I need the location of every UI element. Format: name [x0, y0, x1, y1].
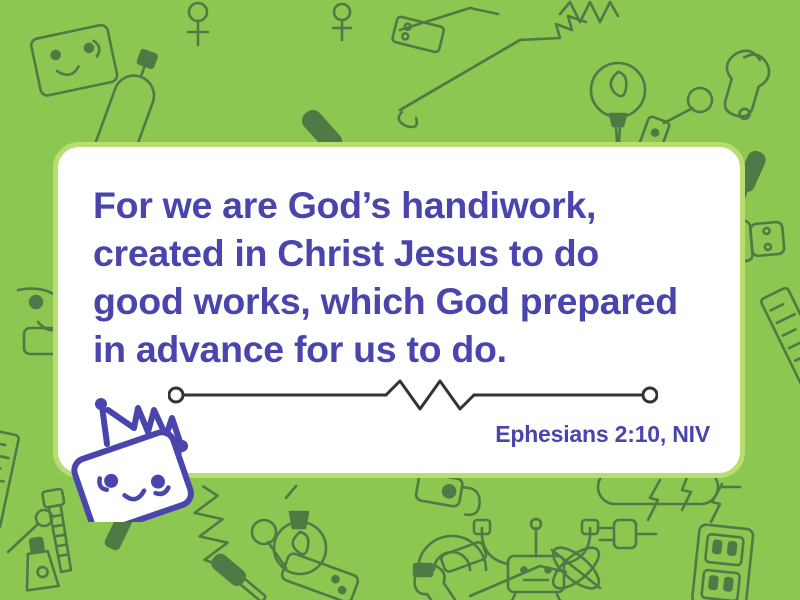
verse-attribution: Ephesians 2:10, NIV	[495, 421, 710, 448]
robot-mascot-icon	[62, 382, 212, 522]
verse-text: For we are God’s handiwork, created in C…	[93, 181, 693, 373]
scripture-card-canvas: For we are God’s handiwork, created in C…	[0, 0, 800, 600]
resistor-divider-icon	[168, 379, 658, 411]
